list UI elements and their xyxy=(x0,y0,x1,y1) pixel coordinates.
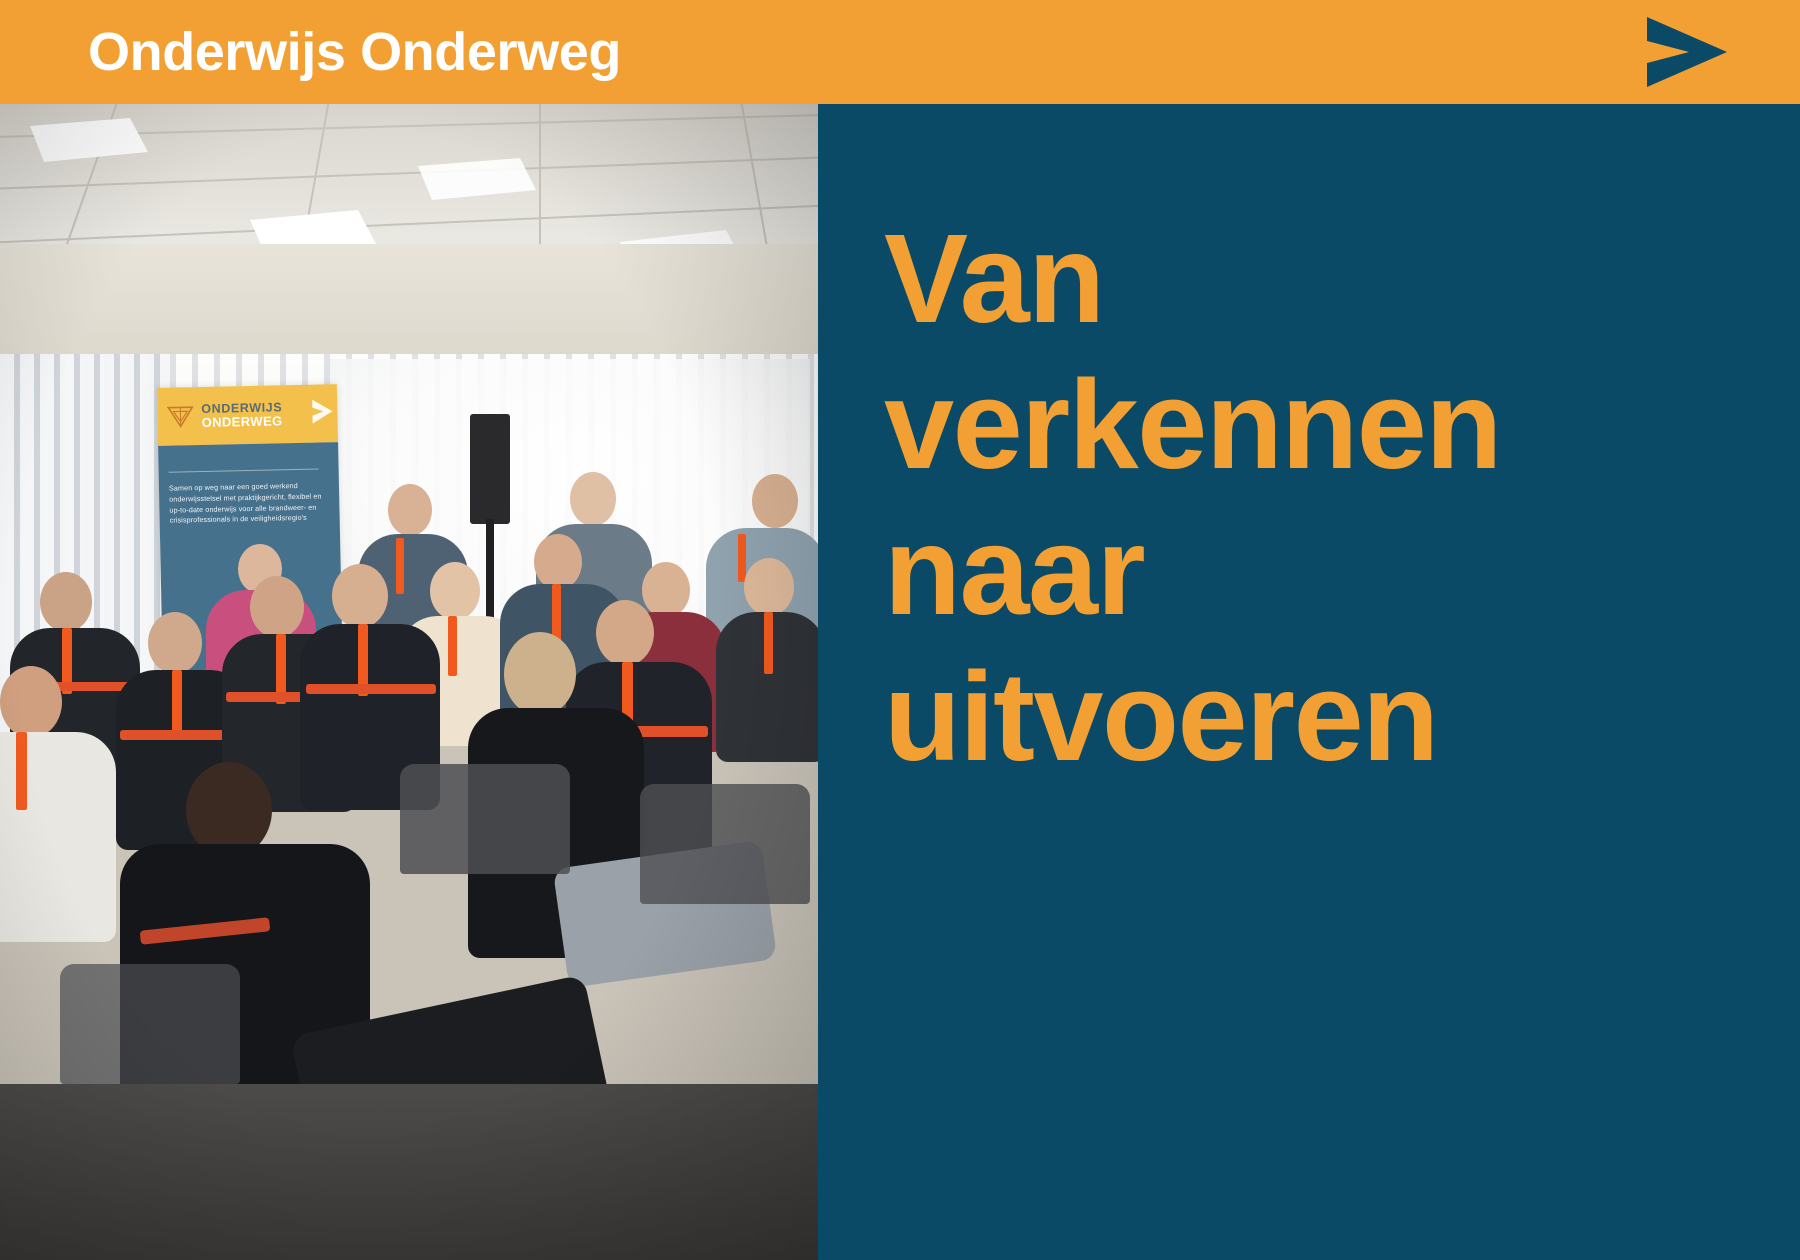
person-head xyxy=(0,666,62,738)
content-area: ONDERWIJS ONDERWEG Samen op weg naar een… xyxy=(0,104,1800,1260)
back-wall xyxy=(0,244,818,364)
lanyard xyxy=(448,616,457,676)
chair xyxy=(60,964,240,1084)
person-head xyxy=(430,562,480,620)
header-bar: Onderwijs Onderweg xyxy=(0,0,1800,104)
person-head xyxy=(642,562,690,618)
person-head xyxy=(250,576,304,638)
speaker-box xyxy=(470,414,510,524)
headline-line-1: Van xyxy=(884,206,1784,352)
person-head xyxy=(596,600,654,666)
chevron-right-icon[interactable] xyxy=(1630,0,1740,104)
person-head xyxy=(40,572,92,632)
banner-header: ONDERWIJS ONDERWEG xyxy=(157,384,338,446)
person-head xyxy=(332,564,388,628)
lanyard xyxy=(738,534,746,582)
slide-root: Onderwijs Onderweg xyxy=(0,0,1800,1260)
banner-logo-line-2: ONDERWEG xyxy=(201,414,282,429)
headline-line-2: verkennen xyxy=(884,352,1784,498)
headline-line-3: naar xyxy=(884,498,1784,644)
floor xyxy=(0,1084,818,1260)
person-head xyxy=(148,612,202,674)
person-head xyxy=(388,484,432,536)
lanyard xyxy=(396,538,404,594)
lanyard xyxy=(16,732,27,810)
chair xyxy=(640,784,810,904)
chair xyxy=(400,764,570,874)
event-photo: ONDERWIJS ONDERWEG Samen op weg naar een… xyxy=(0,104,818,1260)
headline-line-4: uitvoeren xyxy=(884,644,1784,790)
ceiling-grid xyxy=(0,104,818,254)
page-title: Onderwijs Onderweg xyxy=(88,25,621,79)
person-head xyxy=(752,474,798,528)
person-head xyxy=(504,632,576,716)
headline: Van verkennen naar uitvoeren xyxy=(884,206,1784,791)
person-head xyxy=(744,558,794,616)
person-head xyxy=(534,534,582,590)
lanyard xyxy=(764,612,773,674)
person-head xyxy=(570,472,616,526)
triangle-arrow-icon xyxy=(165,403,196,430)
headline-panel: Van verkennen naar uitvoeren xyxy=(818,104,1800,1260)
banner-logo-text: ONDERWIJS ONDERWEG xyxy=(201,401,283,429)
banner-chevron-right-icon xyxy=(309,398,334,424)
banner-body-text: Samen op weg naar een goed werkend onder… xyxy=(169,480,330,527)
banner-divider xyxy=(169,469,319,473)
uniform-stripe xyxy=(306,684,436,694)
